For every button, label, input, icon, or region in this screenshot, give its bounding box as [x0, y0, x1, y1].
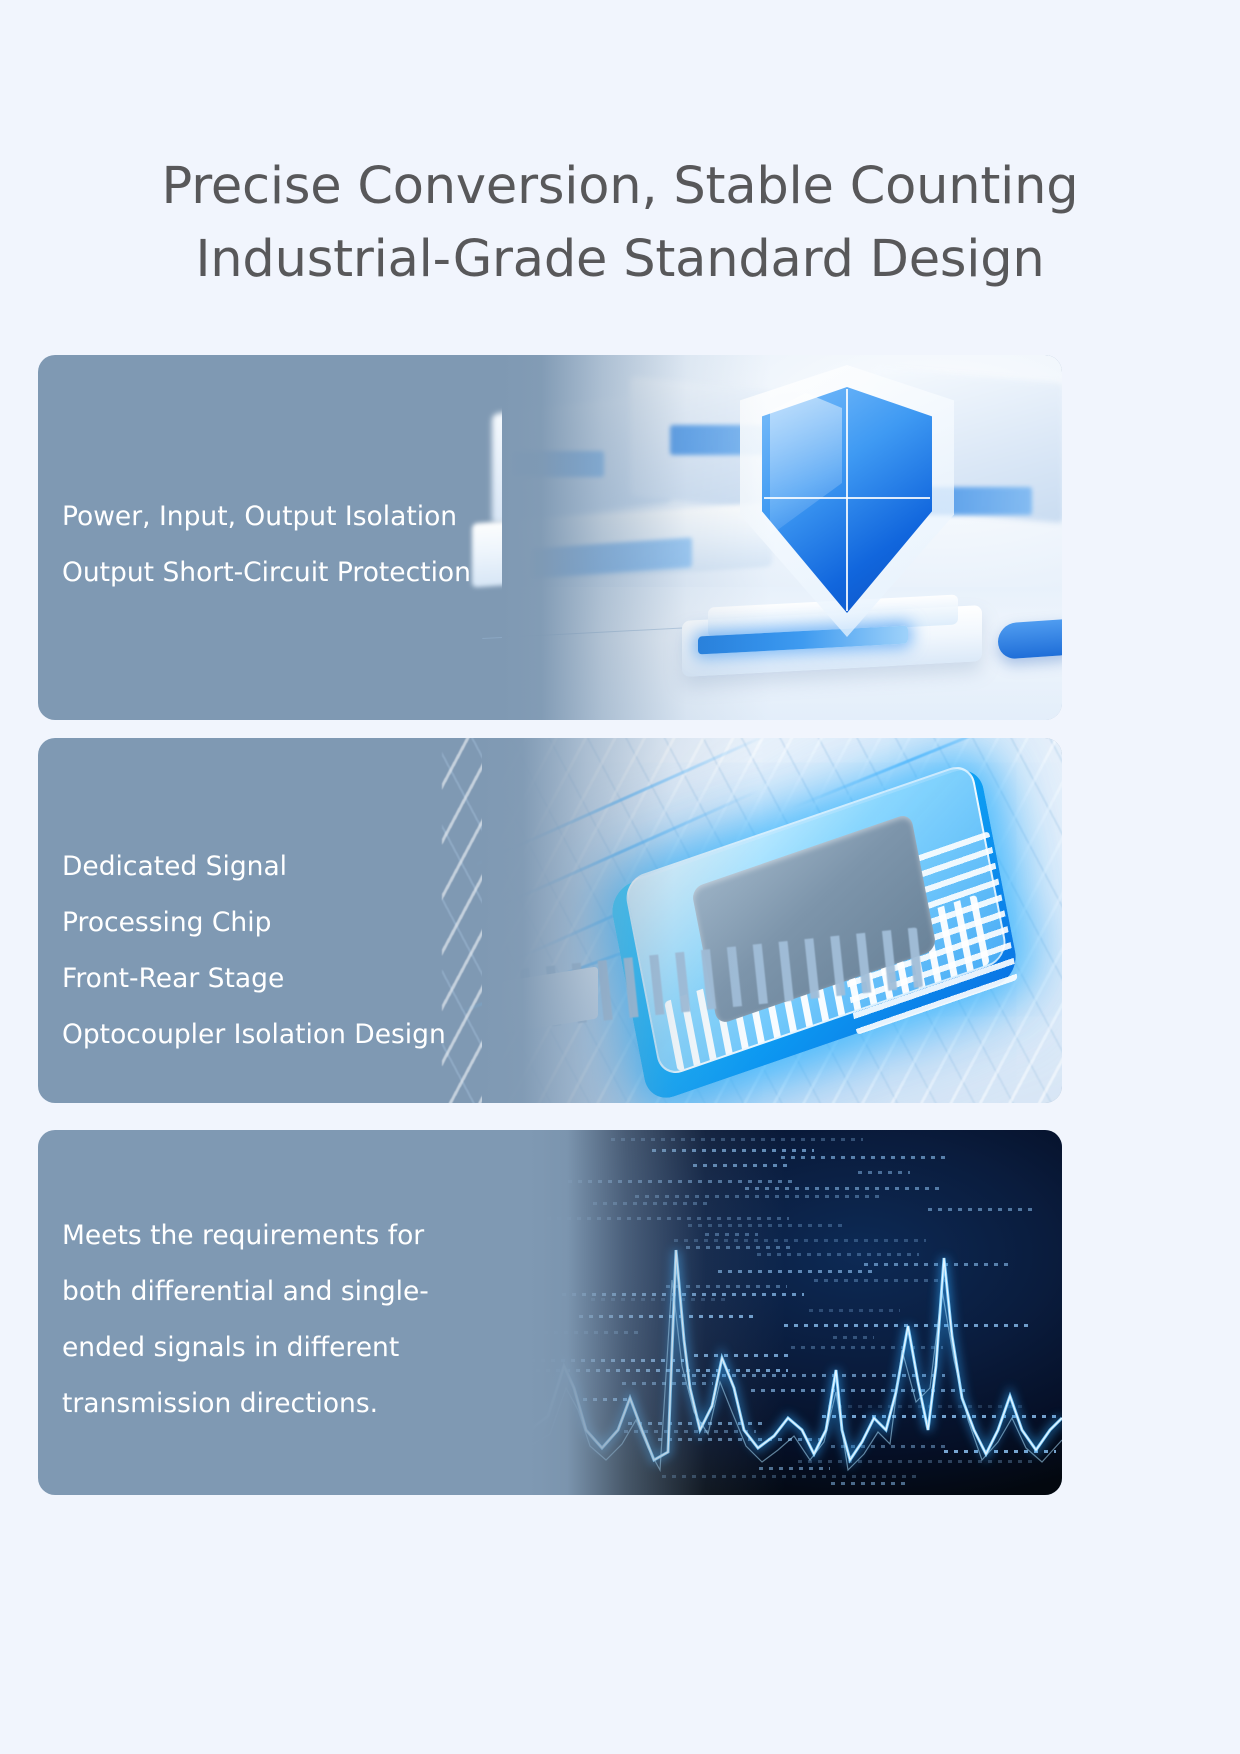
feature-card-isolation-protection: Power, Input, Output Isolation Output Sh…	[38, 355, 1062, 720]
card3-line-1: Meets the requirements for	[62, 1208, 482, 1264]
card3-line-3: ended signals in different	[62, 1320, 482, 1376]
page-title-line-1: Precise Conversion, Stable Counting	[0, 150, 1240, 223]
card2-line-4: Optocoupler Isolation Design	[62, 1007, 446, 1063]
product-feature-page: Precise Conversion, Stable Counting Indu…	[0, 0, 1240, 1754]
shield-icon	[740, 365, 954, 637]
page-title-line-2: Industrial-Grade Standard Design	[0, 223, 1240, 296]
card1-line-1: Power, Input, Output Isolation	[62, 489, 471, 545]
page-title: Precise Conversion, Stable Counting Indu…	[0, 150, 1240, 296]
feature-card-signal-processing-chip: Dedicated Signal Processing Chip Front-R…	[38, 738, 1062, 1103]
feature-card-isolation-protection-text: Power, Input, Output Isolation Output Sh…	[62, 489, 471, 601]
card3-line-2: both differential and single-	[62, 1264, 482, 1320]
card1-line-2: Output Short-Circuit Protection	[62, 545, 471, 601]
blue-shield-on-glass-pedestal-image	[502, 355, 1062, 720]
blue-signal-waveform-image	[530, 1130, 1062, 1495]
card2-line-1: Dedicated Signal	[62, 839, 446, 895]
card3-line-4: transmission directions.	[62, 1376, 482, 1432]
waveform-graphic	[530, 1130, 1062, 1495]
glowing-chip-on-circuit-board-image	[482, 738, 1062, 1103]
card2-line-3: Front-Rear Stage	[62, 951, 446, 1007]
feature-card-differential-single-ended-text: Meets the requirements for both differen…	[62, 1208, 482, 1432]
feature-card-signal-processing-chip-text: Dedicated Signal Processing Chip Front-R…	[62, 839, 446, 1063]
chip-icon	[602, 798, 1022, 1058]
feature-card-differential-single-ended: Meets the requirements for both differen…	[38, 1130, 1062, 1495]
card2-line-2: Processing Chip	[62, 895, 446, 951]
